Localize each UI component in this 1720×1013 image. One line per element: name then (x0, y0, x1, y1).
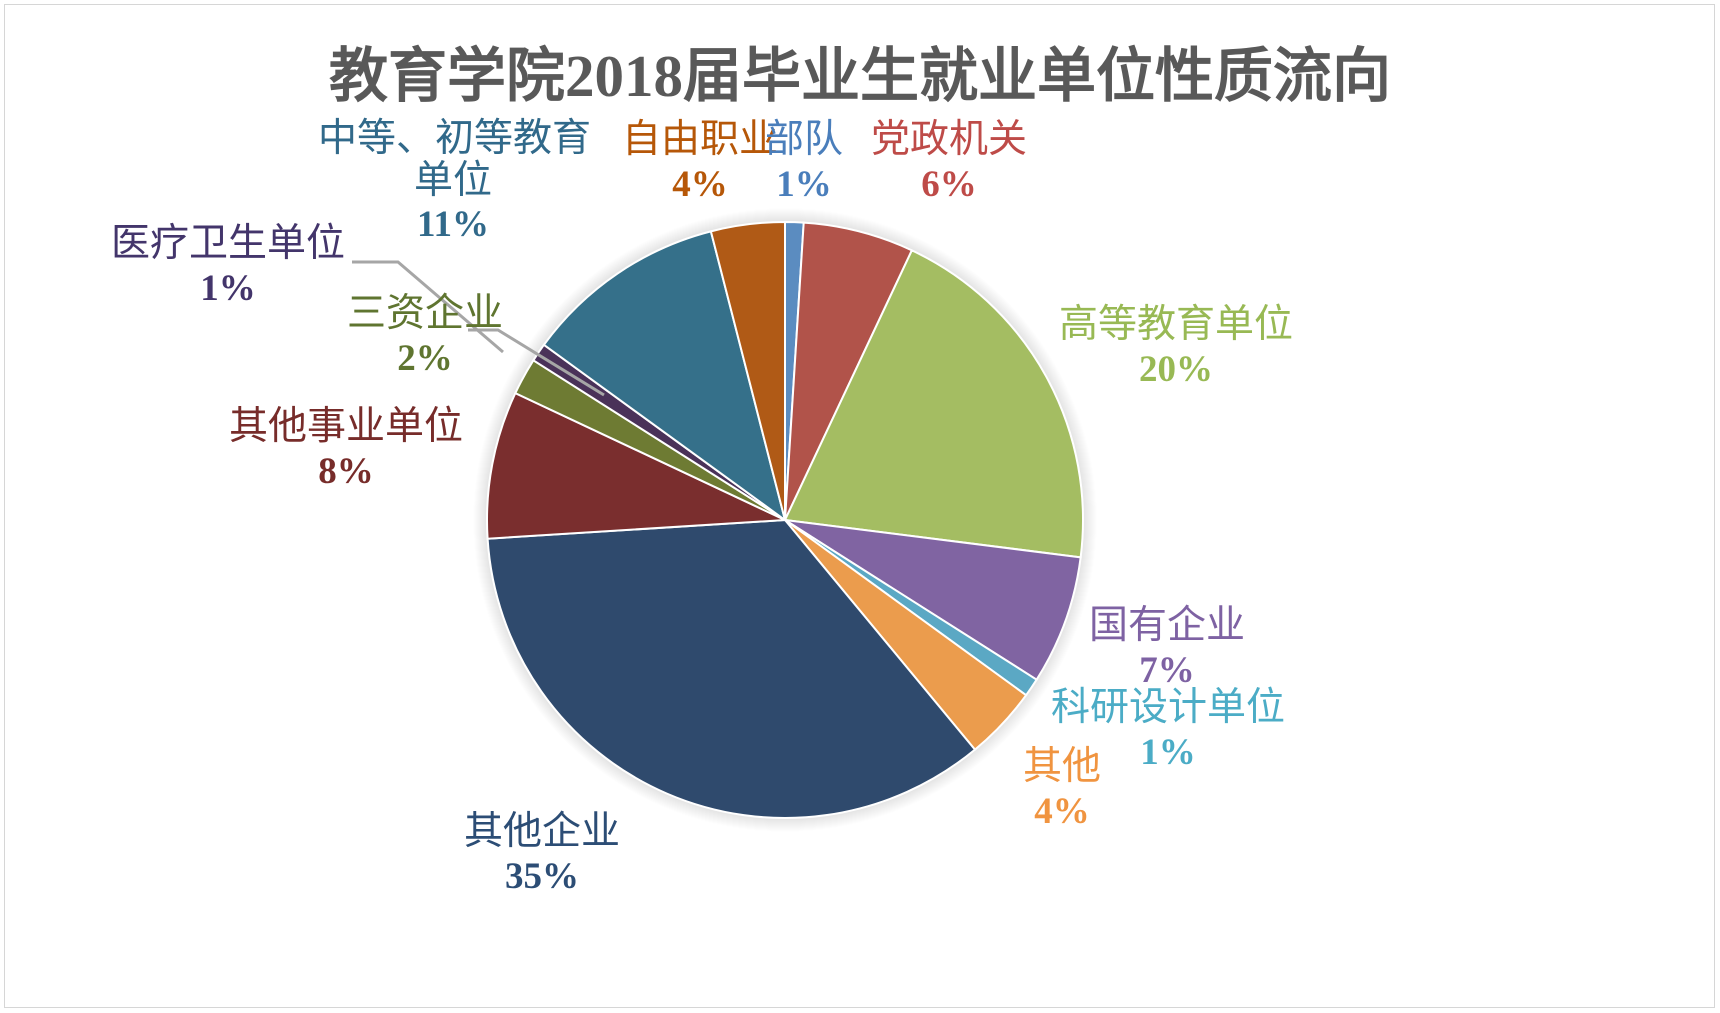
pie-label-other: 其他 4% (1002, 745, 1122, 832)
pie-label-mid-primary-edu-line1: 中等、初等教育 (318, 118, 588, 160)
pie-label-mid-primary-edu-line2: 单位 (318, 160, 588, 202)
pie-label-foreign-invested-name: 三资企业 (340, 292, 510, 336)
pie-label-other-institution: 其他事业单位 8% (222, 405, 470, 492)
pie-label-government: 党政机关 6% (864, 118, 1034, 205)
pie-label-mid-primary-edu-percent: 11% (318, 204, 588, 245)
pie-label-other-enterprise: 其他企业 35% (442, 810, 642, 897)
pie-label-medical: 医疗卫生单位 1% (104, 222, 352, 309)
pie-label-government-percent: 6% (864, 164, 1034, 205)
chart-canvas: 教育学院2018届毕业生就业单位性质流向 中等、初等教育 单位 11% 自由职 (0, 0, 1720, 1013)
pie-label-higher-edu: 高等教育单位 20% (1052, 303, 1300, 390)
pie-label-army-name: 部队 (758, 118, 850, 162)
pie-label-medical-percent: 1% (104, 268, 352, 309)
pie-label-government-name: 党政机关 (864, 118, 1034, 162)
pie-label-mid-primary-edu: 中等、初等教育 单位 11% (318, 118, 588, 246)
pie-label-other-institution-percent: 8% (222, 451, 470, 492)
pie-label-higher-edu-name: 高等教育单位 (1052, 303, 1300, 347)
pie-label-research-design-name: 科研设计单位 (1044, 686, 1292, 730)
pie-label-state-owned-name: 国有企业 (1082, 604, 1252, 648)
pie-label-state-owned-percent: 7% (1082, 650, 1252, 691)
pie-label-other-name: 其他 (1002, 745, 1122, 789)
pie-label-state-owned: 国有企业 7% (1082, 604, 1252, 691)
pie-svg (0, 0, 1720, 1013)
pie-label-higher-edu-percent: 20% (1052, 349, 1300, 390)
pie-label-medical-name: 医疗卫生单位 (104, 222, 352, 266)
pie-label-foreign-invested: 三资企业 2% (340, 292, 510, 379)
pie-label-other-enterprise-name: 其他企业 (442, 810, 642, 854)
pie-label-army-percent: 1% (758, 164, 850, 205)
pie-label-other-percent: 4% (1002, 791, 1122, 832)
pie-label-army: 部队 1% (758, 118, 850, 205)
pie-label-other-enterprise-percent: 35% (442, 856, 642, 897)
pie-label-other-institution-name: 其他事业单位 (222, 405, 470, 449)
pie-slice-group (487, 222, 1083, 818)
pie-label-foreign-invested-percent: 2% (340, 338, 510, 379)
pie-chart-area (0, 0, 1720, 1013)
